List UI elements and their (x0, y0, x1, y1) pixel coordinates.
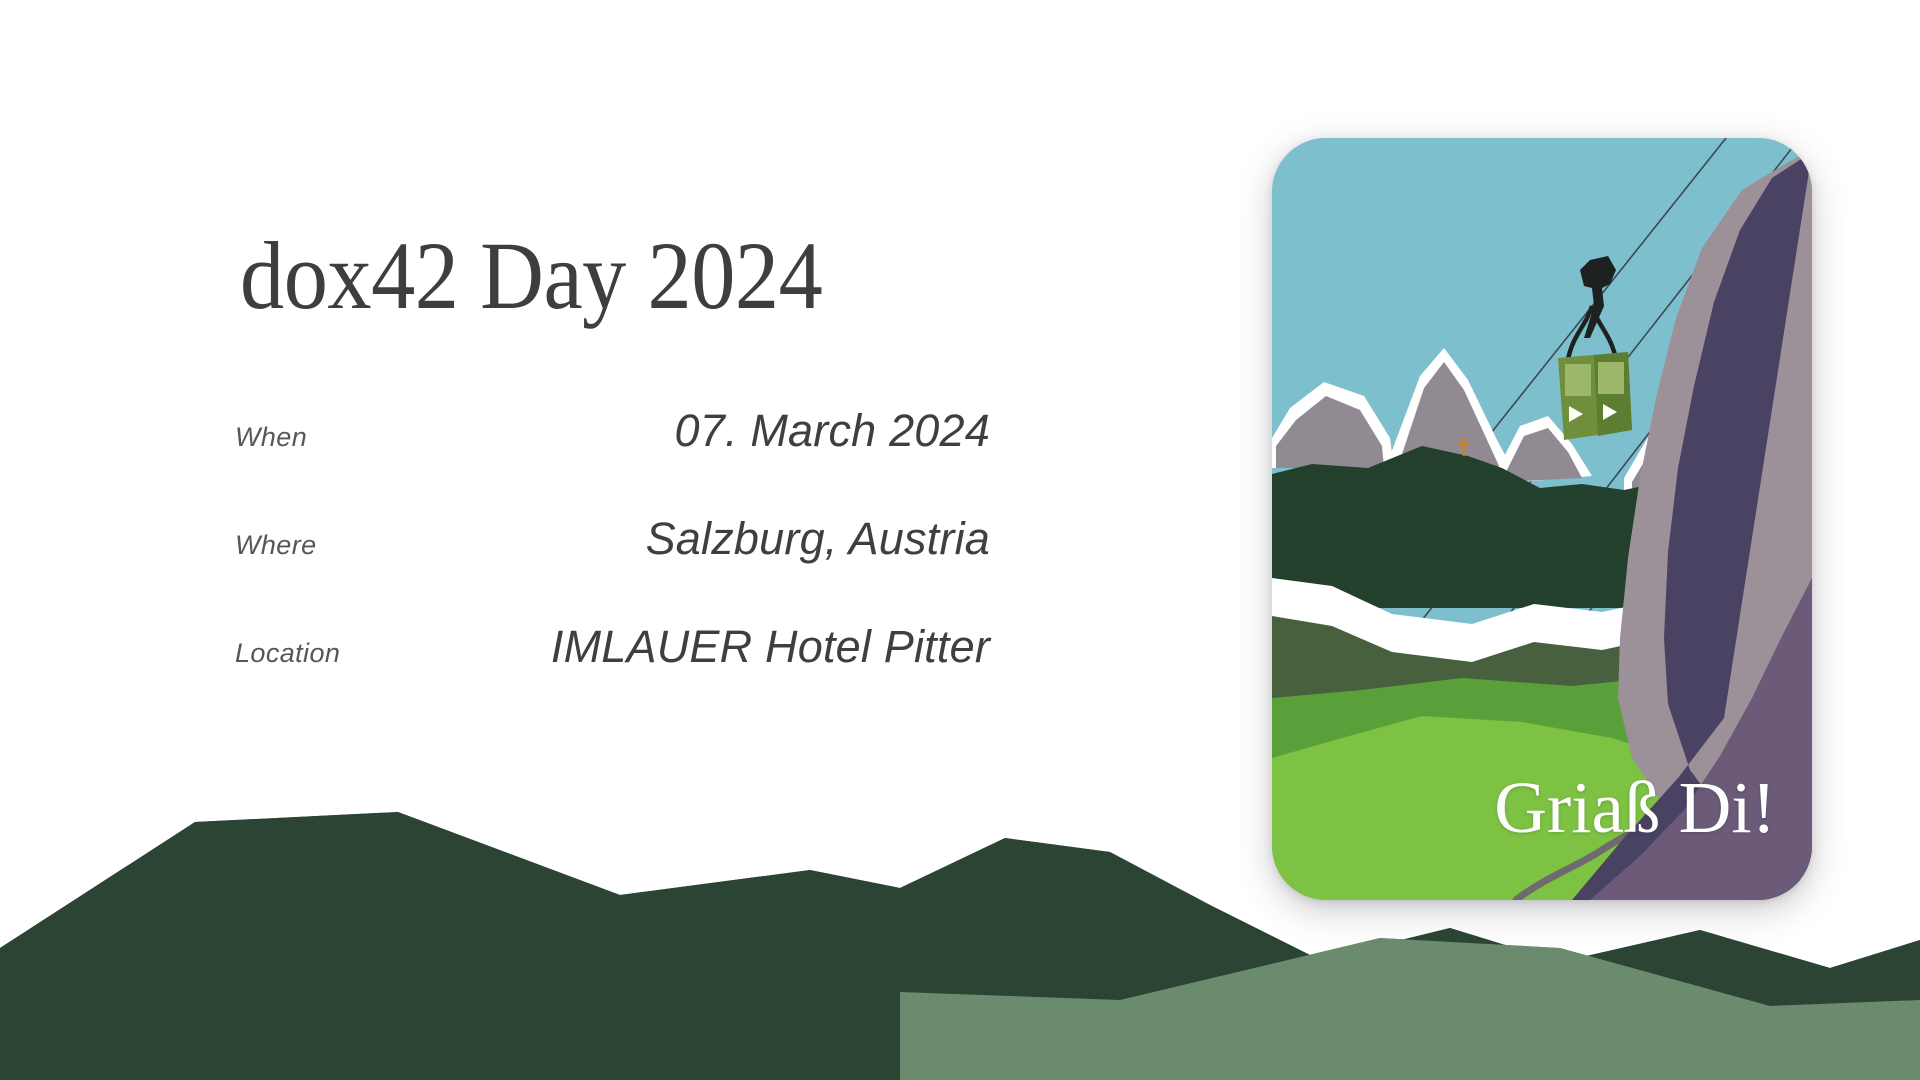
detail-value-location: IMLAUER Hotel Pitter (535, 621, 990, 673)
event-details-list: When 07. March 2024 Where Salzburg, Aust… (235, 405, 990, 729)
gondola-window-left (1565, 364, 1591, 396)
card-greeting-text: Griaß Di! (1494, 771, 1776, 844)
detail-label-location: Location (235, 638, 535, 669)
detail-label-when: When (235, 422, 535, 453)
detail-label-where: Where (235, 530, 535, 561)
detail-row-location: Location IMLAUER Hotel Pitter (235, 621, 990, 729)
detail-value-where: Salzburg, Austria (535, 513, 990, 565)
gondola-window-right (1598, 362, 1624, 394)
detail-row-when: When 07. March 2024 (235, 405, 990, 513)
event-info-panel: dox42 Day 2024 When 07. March 2024 Where… (0, 0, 1020, 1080)
detail-row-where: Where Salzburg, Austria (235, 513, 990, 621)
page-title: dox42 Day 2024 (240, 228, 822, 324)
detail-value-when: 07. March 2024 (535, 405, 990, 457)
illustration-card: Griaß Di! (1272, 138, 1812, 900)
